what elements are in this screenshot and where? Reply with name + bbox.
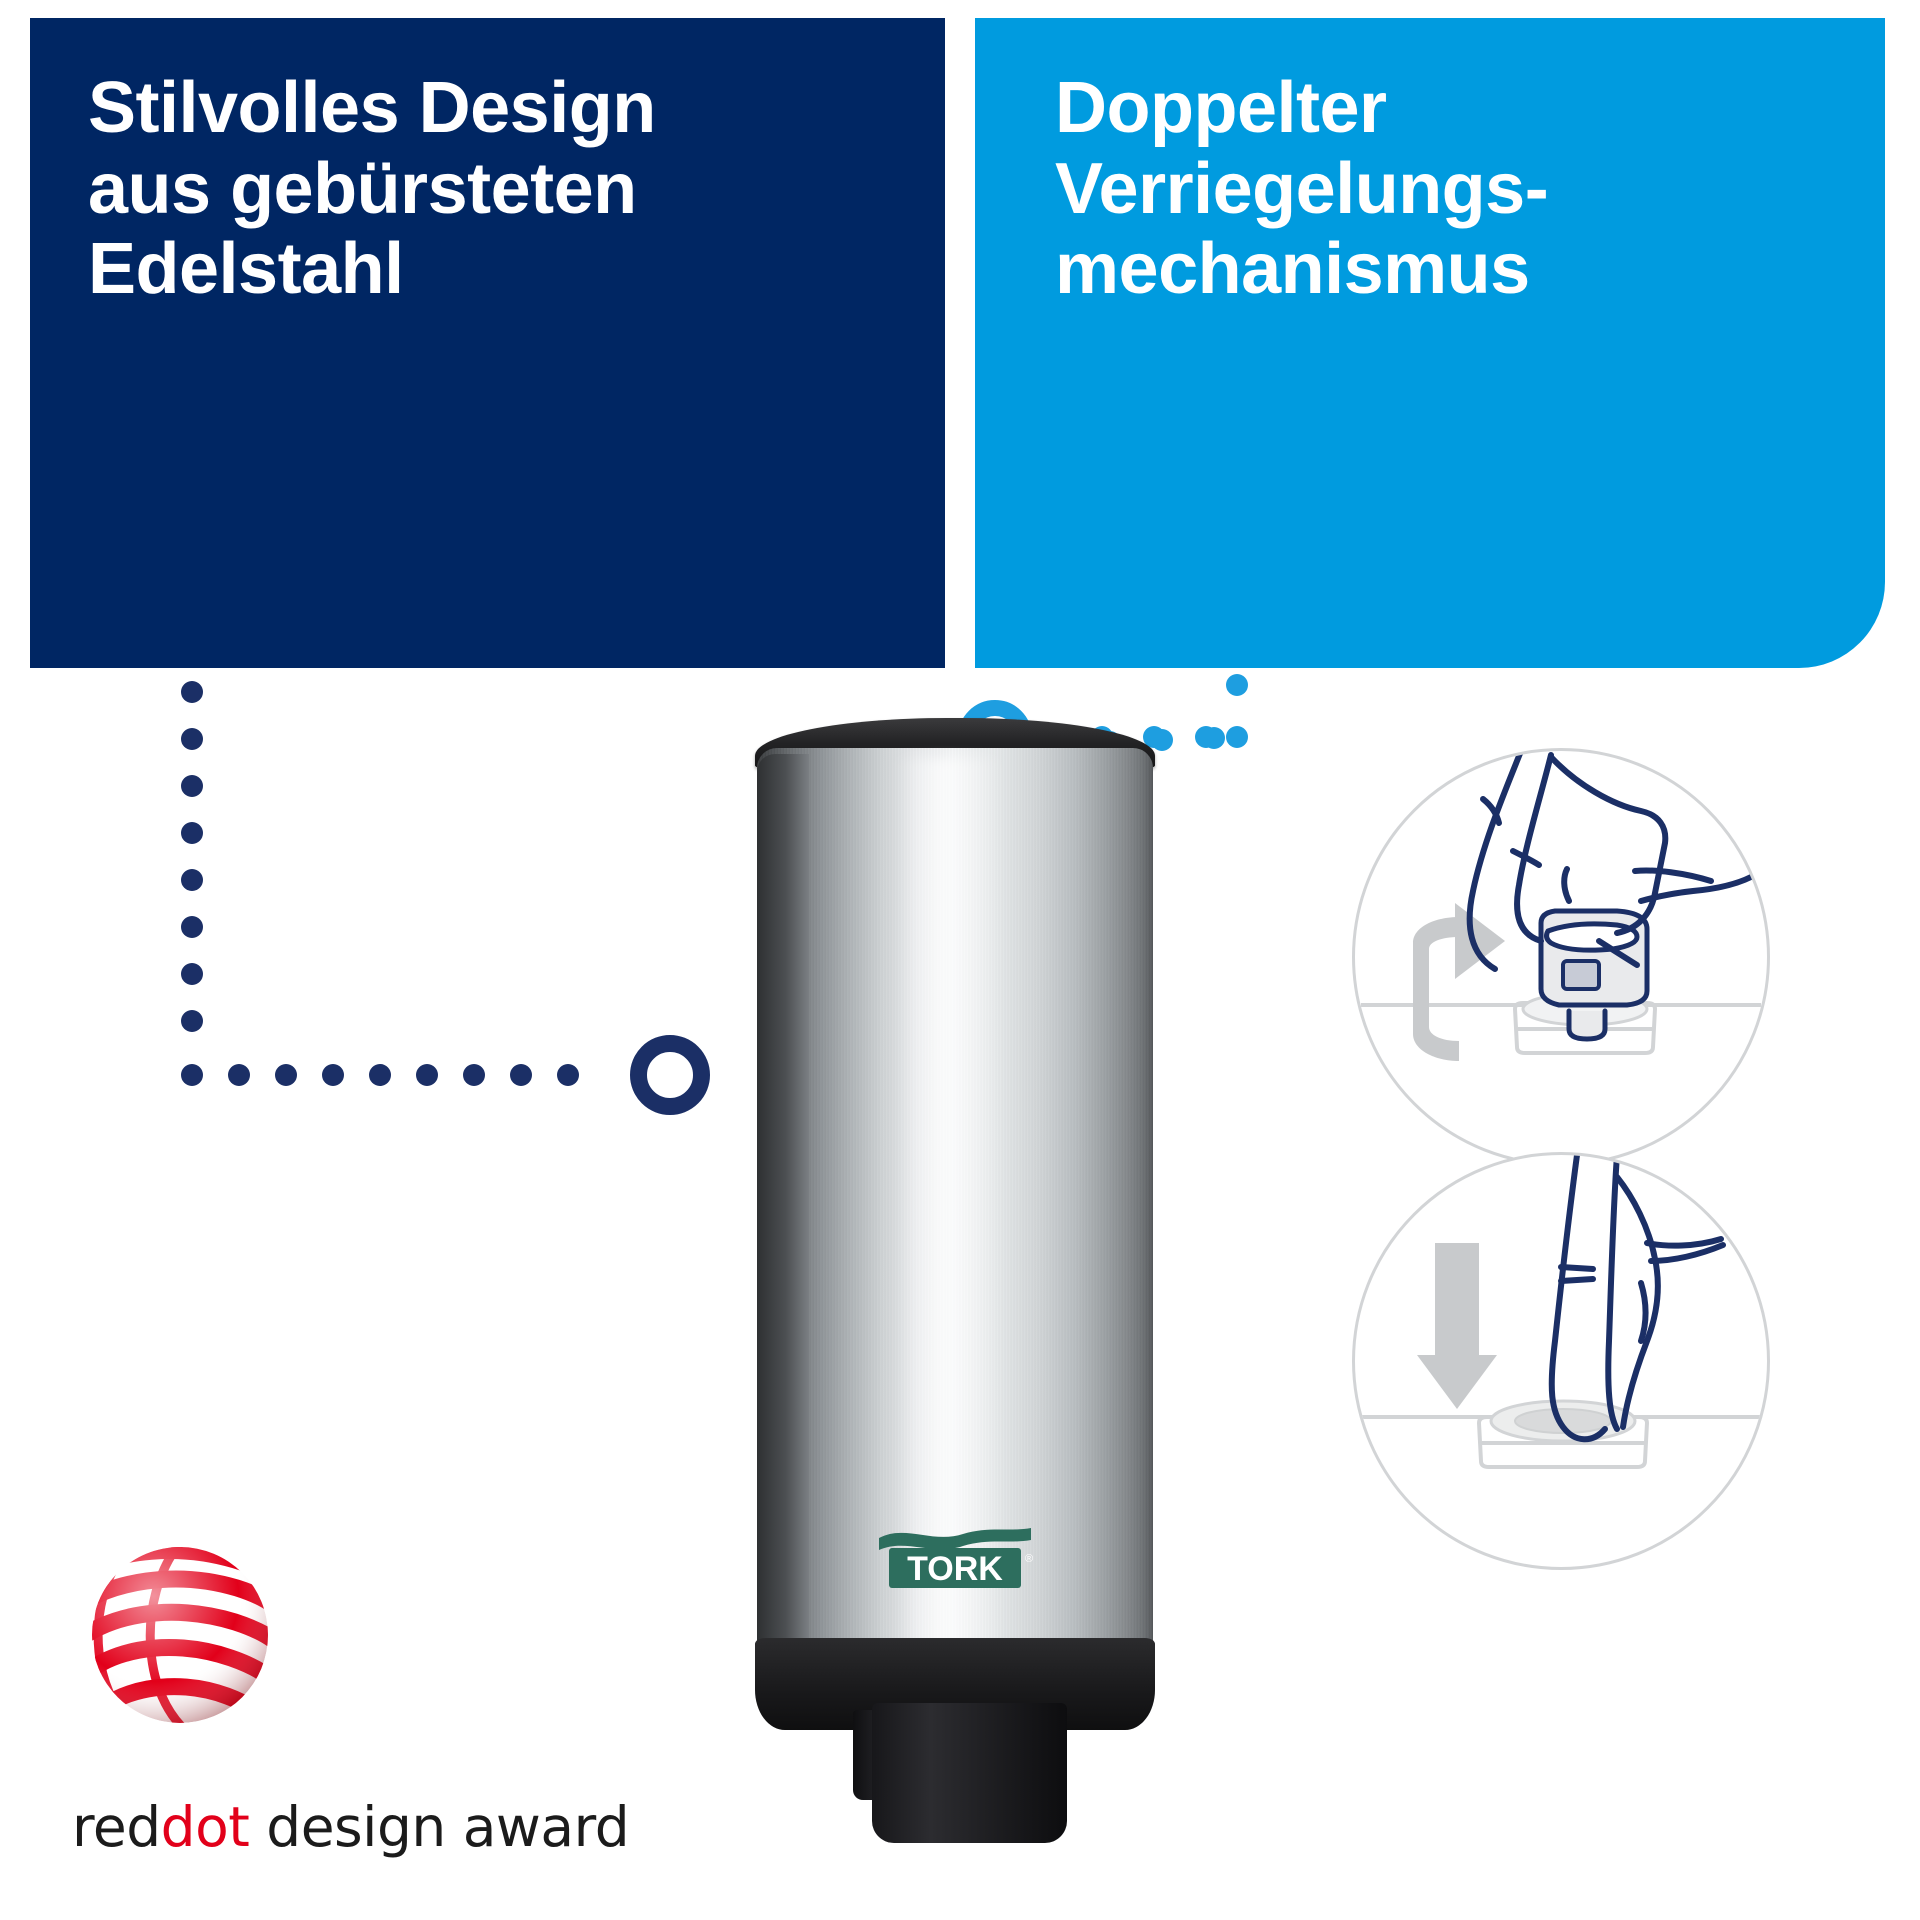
- rotate-arrow-icon: [1413, 903, 1505, 1061]
- callout-dot: [181, 728, 203, 750]
- callout-dot: [369, 1064, 391, 1086]
- finger-pressing-button-icon: [1552, 1155, 1723, 1439]
- callout-dot: [181, 681, 203, 703]
- callout-dot: [181, 963, 203, 985]
- reddot-sphere-icon: [85, 1540, 275, 1730]
- callout-dot: [1226, 726, 1248, 748]
- dispenser-left-edge: [757, 754, 809, 1674]
- feature-panel-design-title: Stilvolles Design aus gebürsteten Edelst…: [88, 68, 918, 310]
- reddot-design-award: reddot design award: [70, 1540, 690, 1900]
- callout-dot: [1226, 674, 1248, 696]
- dispenser-nozzle: [872, 1703, 1067, 1843]
- svg-text:®: ®: [1025, 1553, 1033, 1565]
- callout-dot: [510, 1064, 532, 1086]
- callout-dot: [181, 822, 203, 844]
- callout-dot: [322, 1064, 344, 1086]
- callout-dot: [1203, 727, 1225, 749]
- reddot-text-rest: design award: [249, 1795, 629, 1859]
- callout-dot: [228, 1064, 250, 1086]
- instruction-twist-lock: [1352, 748, 1770, 1166]
- callout-dot: [416, 1064, 438, 1086]
- feature-panel-lock-title: Doppelter Verriegelungs- mechanismus: [1055, 68, 1855, 310]
- reddot-text-dot: dot: [161, 1795, 250, 1859]
- callout-dot: [181, 1064, 203, 1086]
- callout-dot: [557, 1064, 579, 1086]
- instruction-press-down: [1352, 1152, 1770, 1570]
- ring-marker-design: [630, 1035, 710, 1115]
- callout-dot: [181, 775, 203, 797]
- poster-canvas: Stilvolles Design aus gebürsteten Edelst…: [0, 0, 1920, 1920]
- tork-soap-dispenser: TORK ®: [745, 718, 1165, 1838]
- reddot-award-text: reddot design award: [72, 1795, 672, 1859]
- callout-dot: [181, 916, 203, 938]
- tork-logo: TORK ®: [875, 1518, 1035, 1592]
- callout-dot: [181, 869, 203, 891]
- callout-dot: [463, 1064, 485, 1086]
- callout-dot: [275, 1064, 297, 1086]
- down-arrow-icon: [1417, 1243, 1497, 1409]
- tork-logo-text: TORK: [907, 1550, 1003, 1588]
- reddot-text-red: red: [72, 1795, 161, 1859]
- feature-panel-lock: Doppelter Verriegelungs- mechanismus: [975, 18, 1885, 668]
- callout-dot: [1195, 726, 1217, 748]
- callout-dot: [181, 1010, 203, 1032]
- feature-panel-design: Stilvolles Design aus gebürsteten Edelst…: [30, 18, 945, 668]
